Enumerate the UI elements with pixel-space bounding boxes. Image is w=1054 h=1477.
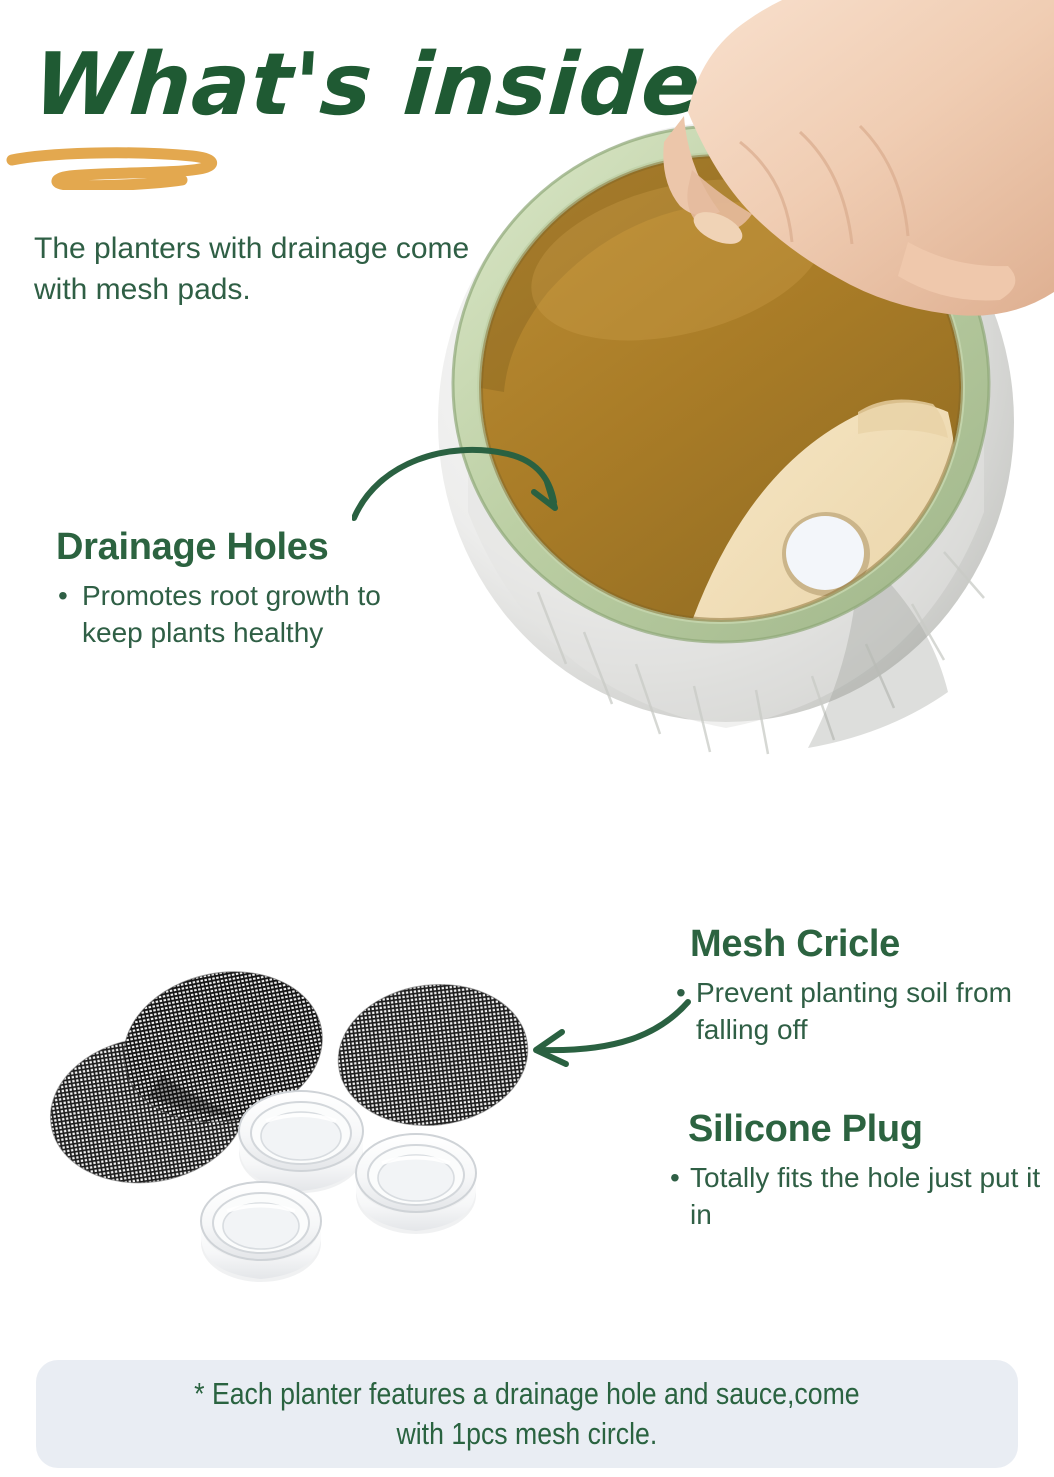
mesh-circles-and-silicone-plugs-photo bbox=[28, 895, 558, 1295]
feature-heading: Mesh Cricle bbox=[690, 925, 1044, 965]
feature-drainage-holes: Drainage Holes • Promotes root growth to… bbox=[56, 528, 436, 652]
silicone-plug bbox=[201, 1182, 321, 1282]
brush-underline-swoosh-icon bbox=[6, 144, 246, 190]
bullet-marker: • bbox=[58, 578, 68, 615]
bullet-text: Totally fits the hole just put it in bbox=[690, 1162, 1040, 1230]
bullet-marker: • bbox=[676, 975, 686, 1012]
mesh-circle bbox=[330, 974, 536, 1136]
feature-mesh-circle: Mesh Cricle • Prevent planting soil from… bbox=[694, 925, 1044, 1049]
feature-bullet: • Promotes root growth to keep plants he… bbox=[56, 578, 436, 652]
hand-holding-planter-photo bbox=[388, 0, 1054, 852]
silicone-plug bbox=[356, 1134, 476, 1234]
bullet-marker: • bbox=[670, 1160, 680, 1197]
feature-bullet: • Prevent planting soil from falling off bbox=[674, 975, 1044, 1049]
feature-silicone-plug: Silicone Plug • Totally fits the hole ju… bbox=[688, 1110, 1048, 1234]
feature-heading: Silicone Plug bbox=[688, 1110, 1048, 1150]
footer-note-box: * Each planter features a drainage hole … bbox=[36, 1360, 1018, 1468]
feature-heading: Drainage Holes bbox=[56, 528, 436, 568]
footer-note-text: * Each planter features a drainage hole … bbox=[194, 1374, 859, 1455]
feature-bullet: • Totally fits the hole just put it in bbox=[668, 1160, 1048, 1234]
arrow-to-mesh-circle-icon bbox=[518, 990, 698, 1080]
bullet-text: Prevent planting soil from falling off bbox=[696, 977, 1012, 1045]
infographic-page: What's inside? The planters with drainag… bbox=[0, 0, 1054, 1477]
bullet-text: Promotes root growth to keep plants heal… bbox=[82, 580, 381, 648]
silicone-plug bbox=[239, 1091, 363, 1193]
